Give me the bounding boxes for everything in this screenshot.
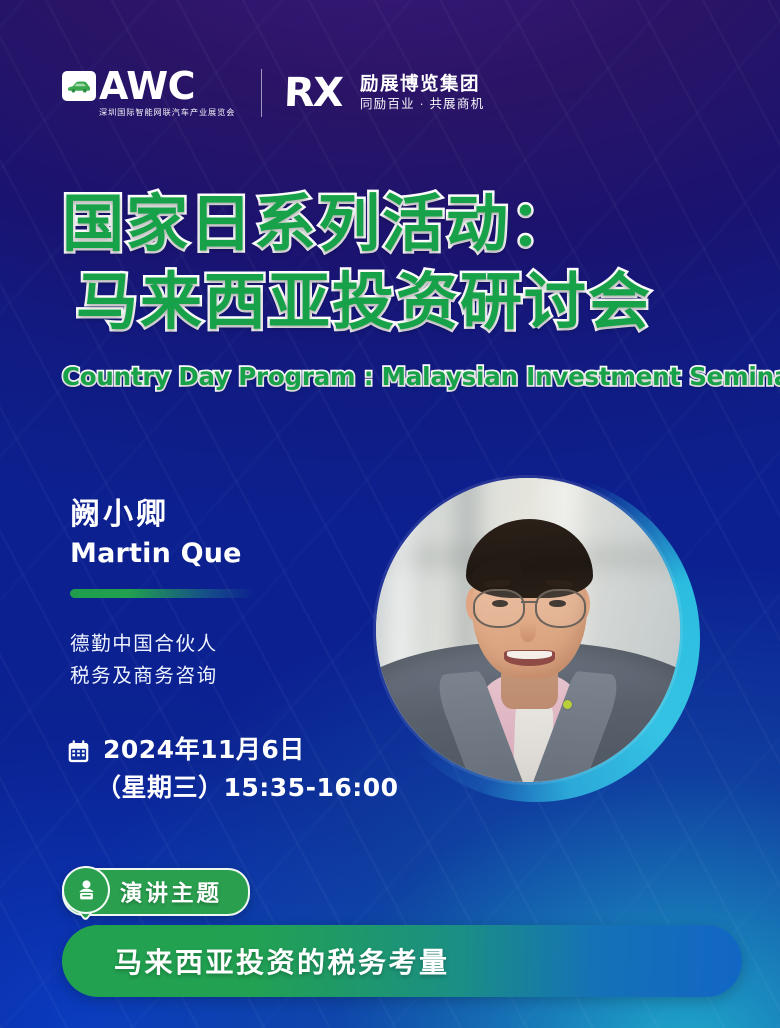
awc-text-block: AWC 深圳国际智能网联汽车产业展览会 (99, 69, 235, 118)
rx-text-block: 励展博览集团 同励百业 · 共展商机 (360, 72, 484, 114)
speaker-portrait (372, 474, 700, 802)
speaker-name-english: Martin Que (70, 536, 370, 572)
portrait-glasses-bridge (521, 601, 539, 603)
header-logo-bar: AWC 深圳国际智能网联汽车产业展览会 RX 励展博览集团 同励百业 · 共展商… (62, 62, 484, 124)
portrait-photo (376, 478, 680, 782)
pin-circle (62, 866, 110, 914)
title-subtitle-english: Country Day Program : Malaysian Investme… (62, 362, 762, 391)
portrait-lapel-pin (563, 700, 572, 709)
topic-title: 马来西亚投资的税务考量 (114, 941, 450, 981)
awc-logo: AWC 深圳国际智能网联汽车产业展览会 (62, 69, 235, 118)
rx-tagline: 同励百业 · 共展商机 (360, 95, 484, 114)
portrait-glasses (473, 589, 585, 624)
topic-badge-label: 演讲主题 (120, 876, 222, 908)
portrait-teeth (507, 651, 552, 660)
speaker-role-line-1: 德勤中国合伙人 (70, 628, 370, 660)
schedule-block: 2024年11月6日 （星期三）15:35-16:00 (66, 731, 396, 807)
portrait-nose (520, 621, 535, 642)
car-icon (62, 71, 96, 101)
rx-wordmark: RX (284, 73, 343, 113)
topic-banner: 马来西亚投资的税务考量 (62, 925, 742, 997)
speaker-podium-icon (62, 866, 112, 924)
portrait-frame (376, 478, 680, 782)
main-title: 国家日系列活动： 马来西亚投资研讨会 (62, 186, 752, 342)
schedule-weekday-time: （星期三）15:35-16:00 (96, 769, 396, 807)
logo-divider (261, 69, 262, 117)
schedule-date-row: 2024年11月6日 (66, 731, 396, 769)
calendar-icon (66, 739, 91, 764)
speaker-role-line-2: 税务及商务咨询 (70, 660, 370, 692)
speaker-info-block: 阙小卿 Martin Que 德勤中国合伙人 税务及商务咨询 (70, 495, 370, 692)
portrait-lens-right (535, 589, 586, 628)
awc-subtitle: 深圳国际智能网联汽车产业展览会 (99, 106, 235, 118)
speaker-divider-rule (70, 589, 256, 598)
speaker-name-chinese: 阙小卿 (70, 495, 370, 535)
rx-company-name: 励展博览集团 (360, 72, 484, 95)
poster-canvas: AWC 深圳国际智能网联汽车产业展览会 RX 励展博览集团 同励百业 · 共展商… (0, 0, 780, 1028)
speaker-role-block: 德勤中国合伙人 税务及商务咨询 (70, 628, 370, 692)
schedule-date: 2024年11月6日 (103, 731, 305, 769)
awc-wordmark: AWC (99, 69, 235, 103)
title-line-2: 马来西亚投资研讨会 (76, 264, 752, 342)
portrait-lens-left (473, 589, 524, 628)
title-line-1: 国家日系列活动： (62, 186, 752, 264)
